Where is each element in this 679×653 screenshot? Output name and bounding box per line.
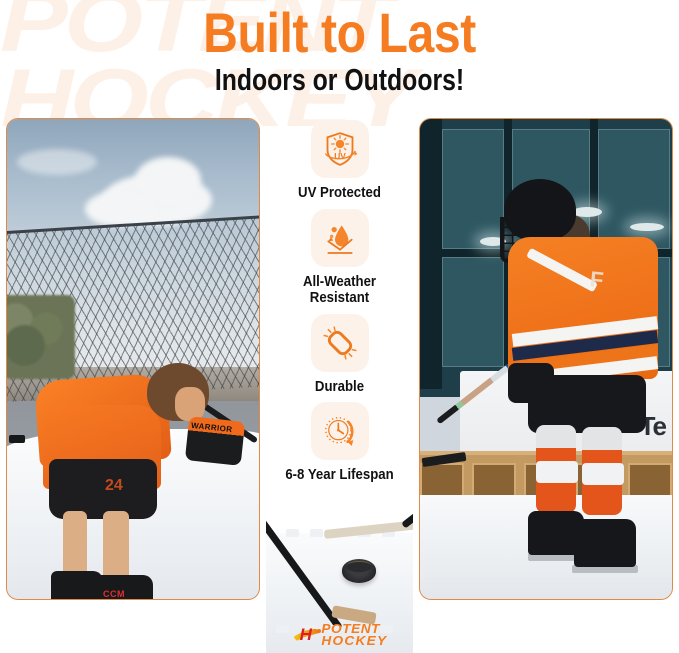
feature-all-weather-resistant: All-Weather Resistant [266, 209, 413, 307]
feature-durable: Durable [266, 314, 413, 396]
hockey-glove [508, 363, 554, 403]
page-title: Built to Last [48, 4, 632, 61]
ceiling-light [630, 223, 664, 231]
chain-link-icon [311, 314, 369, 372]
glass-pane [442, 257, 504, 367]
puck-face [346, 561, 372, 572]
jersey-number: 24 [105, 477, 123, 495]
face [175, 387, 205, 421]
cloud [17, 149, 97, 175]
svg-text:UV: UV [334, 151, 346, 161]
clock-arrow-icon [311, 402, 369, 460]
glass-pane [598, 129, 670, 249]
puck [9, 435, 25, 443]
tile-notch [310, 529, 323, 537]
skate-brand-label: CCM [103, 589, 125, 599]
tile-notch [286, 529, 299, 537]
indoor-hockey-photo: Te F [419, 118, 673, 600]
feature-label: 6-8 Year Lifespan [275, 467, 404, 484]
features-column: UV UV Protected All-Weather Resistant [266, 118, 413, 653]
feature-lifespan: 6-8 Year Lifespan [266, 402, 413, 484]
ice-skate [574, 519, 636, 567]
sock-stripe [536, 461, 578, 483]
bushes [6, 295, 75, 379]
left-photo-column: 24 CCM WARRIOR [0, 118, 266, 600]
brand-logo: H POTENT HOCKEY [266, 623, 413, 647]
header: Built to Last Indoors or Outdoors! [0, 0, 679, 118]
logo-text-line-2: HOCKEY [321, 635, 387, 647]
glass-pane [442, 129, 504, 249]
jersey-crest: F [589, 266, 605, 293]
feature-label: Durable [275, 379, 404, 396]
logo-text: POTENT HOCKEY [321, 623, 387, 647]
leg [103, 511, 129, 583]
uv-shield-icon: UV [311, 120, 369, 178]
outdoor-hockey-photo: 24 CCM WARRIOR [6, 118, 260, 600]
feature-label: All-Weather Resistant [275, 274, 404, 307]
feature-uv-protected: UV UV Protected [266, 120, 413, 202]
main-content: 24 CCM WARRIOR [0, 118, 679, 653]
potent-hockey-logo-mark: H [294, 624, 320, 646]
logo-letter: H [300, 626, 312, 643]
page-subtitle: Indoors or Outdoors! [68, 64, 611, 97]
water-droplet-icon [311, 209, 369, 267]
feature-label: UV Protected [275, 185, 404, 202]
logo-dot-icon [317, 629, 321, 633]
right-photo-column: Te F [413, 118, 679, 600]
black-shorts [49, 459, 157, 519]
sock-stripe [582, 463, 624, 485]
